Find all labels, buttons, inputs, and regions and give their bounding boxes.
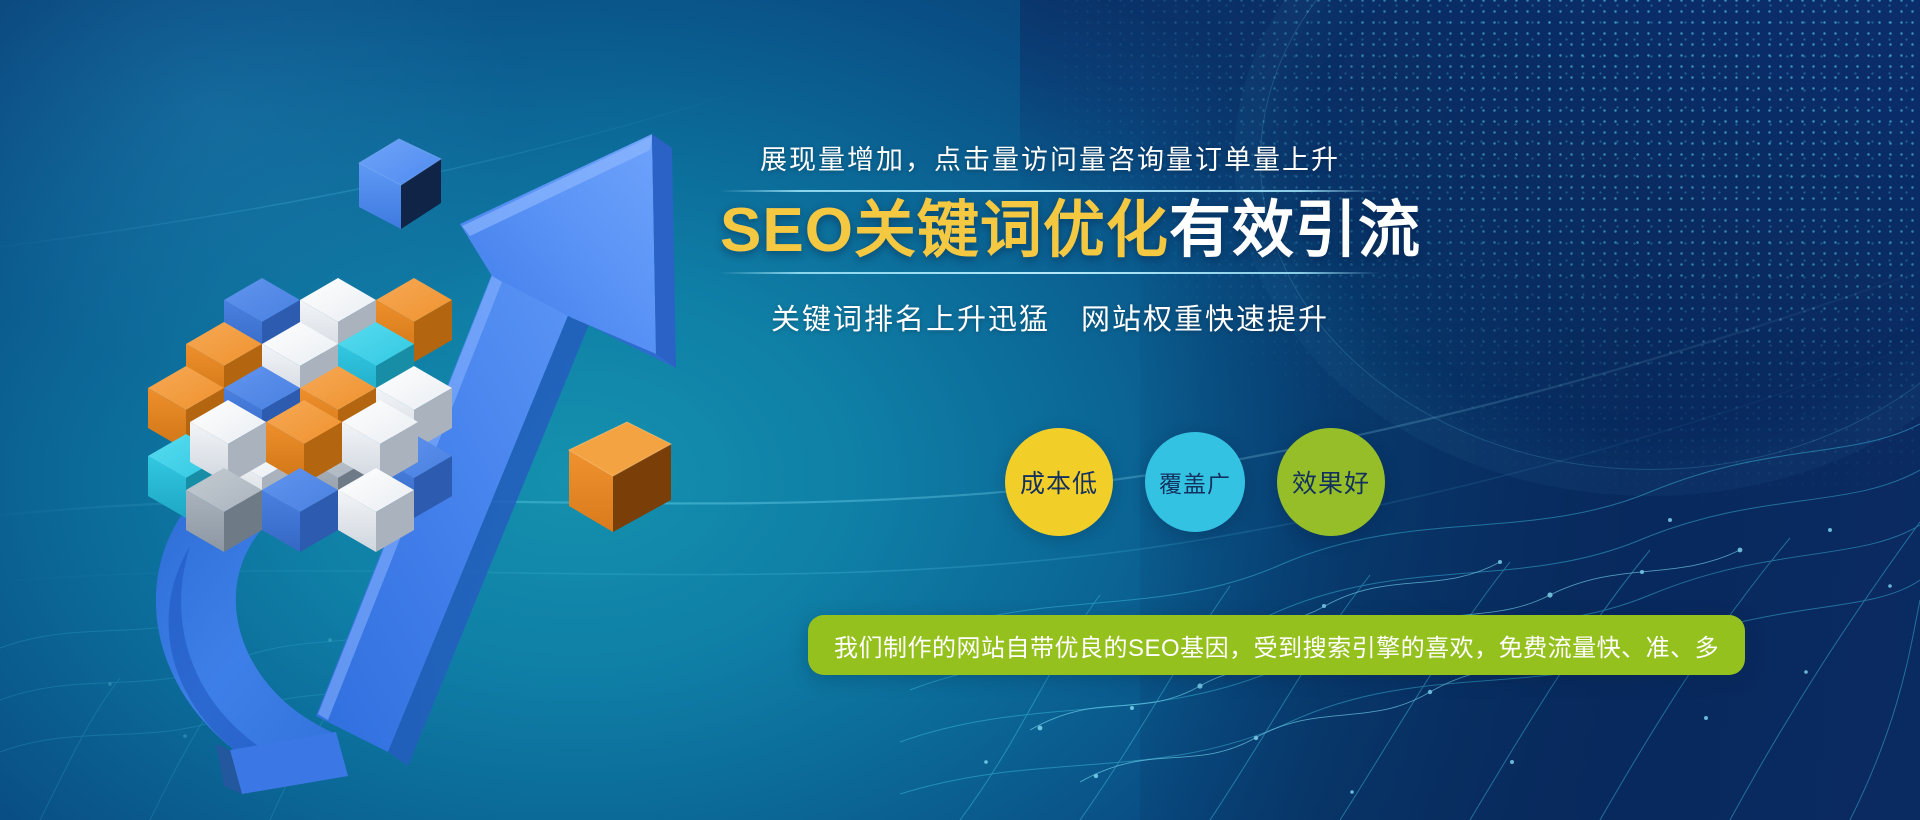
page-title: SEO关键词优化有效引流 xyxy=(720,198,1380,264)
tagline-top: 展现量增加，点击量访问量咨询量订单量上升 xyxy=(720,138,1380,177)
divider-bottom xyxy=(720,272,1380,274)
feature-circle-label: 成本低 xyxy=(1020,464,1098,500)
right-navy-overlay xyxy=(1140,0,1920,820)
headline-block: 展现量增加，点击量访问量咨询量订单量上升 SEO关键词优化有效引流 关键词排名上… xyxy=(720,138,1380,338)
floating-cube-icon xyxy=(355,133,445,233)
benefit-pill-bar: 我们制作的网站自带优良的SEO基因，受到搜索引擎的喜欢，免费流量快、准、多 xyxy=(808,615,1745,675)
tagline-sub: 关键词排名上升迅猛 网站权重快速提升 xyxy=(720,296,1380,338)
headline-highlight: SEO关键词优化 xyxy=(720,196,1169,265)
upward-arrow-icon xyxy=(120,60,740,800)
divider-top xyxy=(720,190,1380,192)
feature-circle-coverage[interactable]: 覆盖广 xyxy=(1145,432,1245,532)
top-left-glow xyxy=(0,0,620,460)
orange-cube-icon xyxy=(565,420,675,550)
feature-circle-effect[interactable]: 效果好 xyxy=(1277,428,1385,536)
feature-circles: 成本低 覆盖广 效果好 xyxy=(1005,428,1385,536)
network-wireframe-left xyxy=(0,520,420,820)
feature-circle-cost[interactable]: 成本低 xyxy=(1005,428,1113,536)
seo-promo-banner: 展现量增加，点击量访问量咨询量订单量上升 SEO关键词优化有效引流 关键词排名上… xyxy=(0,0,1920,820)
benefit-pill-text: 我们制作的网站自带优良的SEO基因，受到搜索引擎的喜欢，免费流量快、准、多 xyxy=(834,628,1719,663)
feature-circle-label: 效果好 xyxy=(1292,464,1370,500)
glow-swoosh-lines xyxy=(0,0,1920,820)
feature-circle-label: 覆盖广 xyxy=(1159,465,1231,499)
headline-rest: 有效引流 xyxy=(1169,196,1421,265)
rubiks-cube-icon xyxy=(128,238,458,558)
